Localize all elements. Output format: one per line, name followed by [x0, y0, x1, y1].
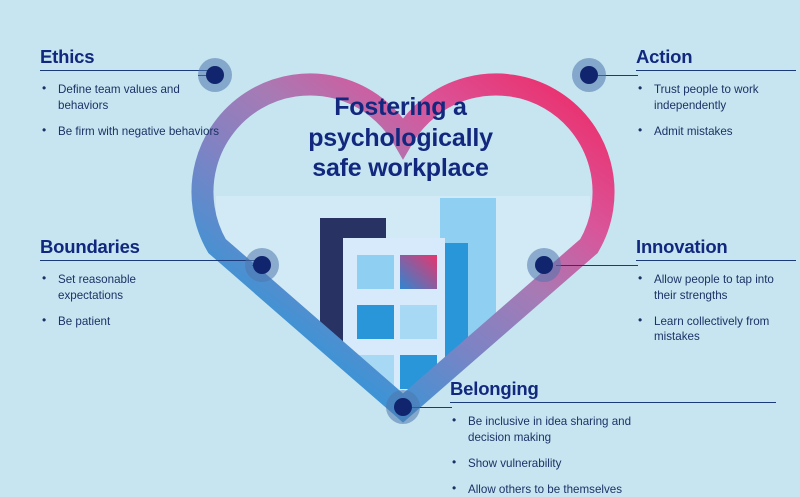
list-item: •Be patient — [40, 314, 265, 329]
center-title-line-1: Fostering a — [288, 92, 513, 123]
list-item-text: Be firm with negative behaviors — [58, 125, 219, 138]
callout-rule — [450, 402, 776, 403]
node-core — [394, 398, 412, 416]
bullet-icon: • — [42, 123, 46, 139]
list-item-text: Define team values and behaviors — [58, 83, 180, 111]
callout-rule — [40, 70, 220, 71]
list-item-text: Be patient — [58, 315, 110, 328]
callout-rule — [636, 260, 796, 261]
bullet-icon: • — [42, 313, 46, 329]
list-item: •Be firm with negative behaviors — [40, 124, 220, 139]
list-item: •Allow people to tap into their strength… — [636, 272, 796, 303]
bullet-icon: • — [638, 123, 642, 139]
callout-innovation: Innovation •Allow people to tap into the… — [636, 236, 796, 344]
bullet-icon: • — [638, 271, 642, 287]
callout-bullets-action: •Trust people to work independently •Adm… — [636, 82, 796, 139]
callout-heading-boundaries: Boundaries — [40, 236, 265, 257]
connector-innovation — [556, 265, 638, 266]
building-window — [357, 305, 394, 339]
center-title-line-3: safe workplace — [288, 153, 513, 184]
callout-bullets-boundaries: •Set reasonable expectations •Be patient — [40, 272, 265, 329]
center-title-line-2: psychologically — [288, 123, 513, 154]
callout-belonging: Belonging •Be inclusive in idea sharing … — [450, 378, 776, 497]
list-item-text: Learn collectively from mistakes — [654, 315, 769, 343]
callout-action: Action •Trust people to work independent… — [636, 46, 796, 139]
bullet-icon: • — [42, 271, 46, 287]
center-title: Fostering a psychologically safe workpla… — [288, 92, 513, 184]
building-window — [400, 305, 437, 339]
bullet-icon: • — [452, 413, 456, 429]
bullet-icon: • — [42, 81, 46, 97]
callout-heading-ethics: Ethics — [40, 46, 220, 67]
callout-bullets-innovation: •Allow people to tap into their strength… — [636, 272, 796, 344]
bullet-icon: • — [452, 455, 456, 471]
list-item-text: Admit mistakes — [654, 125, 733, 138]
callout-bullets-ethics: •Define team values and behaviors •Be fi… — [40, 82, 220, 139]
list-item: •Be inclusive in idea sharing and decisi… — [450, 414, 658, 445]
list-item: •Learn collectively from mistakes — [636, 314, 796, 345]
node-core — [535, 256, 553, 274]
bullet-icon: • — [638, 313, 642, 329]
list-item: •Trust people to work independently — [636, 82, 796, 113]
callout-heading-action: Action — [636, 46, 796, 67]
infographic-canvas: Fostering a psychologically safe workpla… — [0, 0, 800, 495]
node-core — [580, 66, 598, 84]
list-item: •Admit mistakes — [636, 124, 796, 139]
list-item-text: Set reasonable expectations — [58, 273, 136, 301]
node-core — [253, 256, 271, 274]
list-item: •Show vulnerability — [450, 456, 776, 471]
callout-rule — [40, 260, 265, 261]
building-window — [357, 255, 394, 289]
node-core — [206, 66, 224, 84]
callout-heading-innovation: Innovation — [636, 236, 796, 257]
list-item-text: Trust people to work independently — [654, 83, 759, 111]
dark-navy-building-top — [320, 218, 386, 240]
list-item: •Define team values and behaviors — [40, 82, 220, 113]
list-item-text: Show vulnerability — [468, 457, 561, 470]
list-item-text: Allow people to tap into their strengths — [654, 273, 774, 301]
building-window-accent — [400, 255, 437, 289]
list-item-text: Allow others to be themselves — [468, 483, 622, 496]
callout-heading-belonging: Belonging — [450, 378, 776, 399]
list-item-text: Be inclusive in idea sharing and decisio… — [468, 415, 631, 443]
bullet-icon: • — [638, 81, 642, 97]
callout-bullets-belonging: •Be inclusive in idea sharing and decisi… — [450, 414, 776, 497]
callout-ethics: Ethics •Define team values and behaviors… — [40, 46, 220, 139]
list-item: •Set reasonable expectations — [40, 272, 198, 303]
callout-rule — [636, 70, 796, 71]
callout-boundaries: Boundaries •Set reasonable expectations … — [40, 236, 265, 329]
